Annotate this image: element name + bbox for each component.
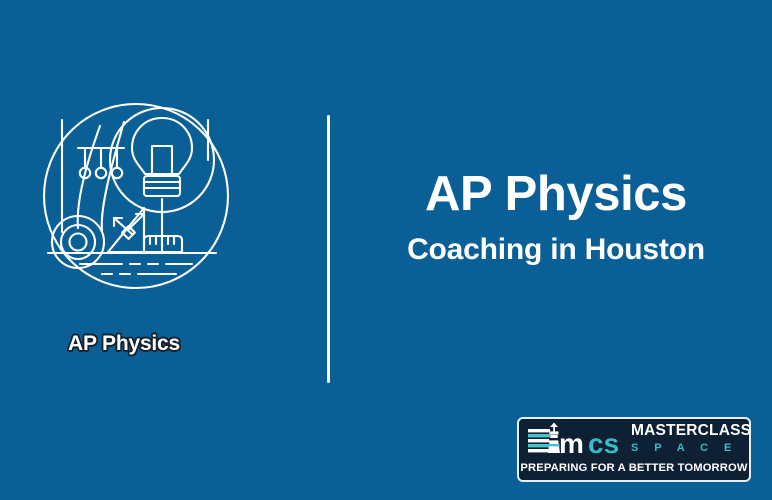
mcs-lighthouse-mark-icon: m cs	[527, 422, 629, 458]
ap-physics-promo-banner: AP Physics AP Physics Coaching in Housto…	[0, 0, 772, 500]
page-title: AP Physics	[360, 168, 752, 221]
headline-block: AP Physics Coaching in Houston	[360, 168, 752, 267]
svg-text:m: m	[559, 428, 584, 458]
vertical-divider	[327, 115, 330, 383]
light-bulb-icon	[132, 118, 192, 252]
svg-text:cs: cs	[588, 428, 619, 458]
illustration-caption: AP Physics	[68, 332, 268, 356]
masterclass-space-logo[interactable]: m cs MASTERCLASS S P A C E PREPARING FOR…	[517, 417, 751, 482]
logo-brand-secondary: S P A C E	[631, 443, 749, 454]
physics-concept-illustration	[40, 100, 256, 300]
page-subtitle: Coaching in Houston	[360, 233, 752, 268]
inclined-plane-vectors-icon	[108, 208, 144, 252]
logo-wordmark: MASTERCLASS S P A C E	[631, 423, 749, 454]
logo-brand-primary: MASTERCLASS	[631, 423, 749, 439]
logo-tagline: PREPARING FOR A BETTER TOMORROW	[519, 462, 749, 474]
logo-bars-icon	[528, 429, 550, 452]
illustration-block: AP Physics	[40, 100, 290, 380]
